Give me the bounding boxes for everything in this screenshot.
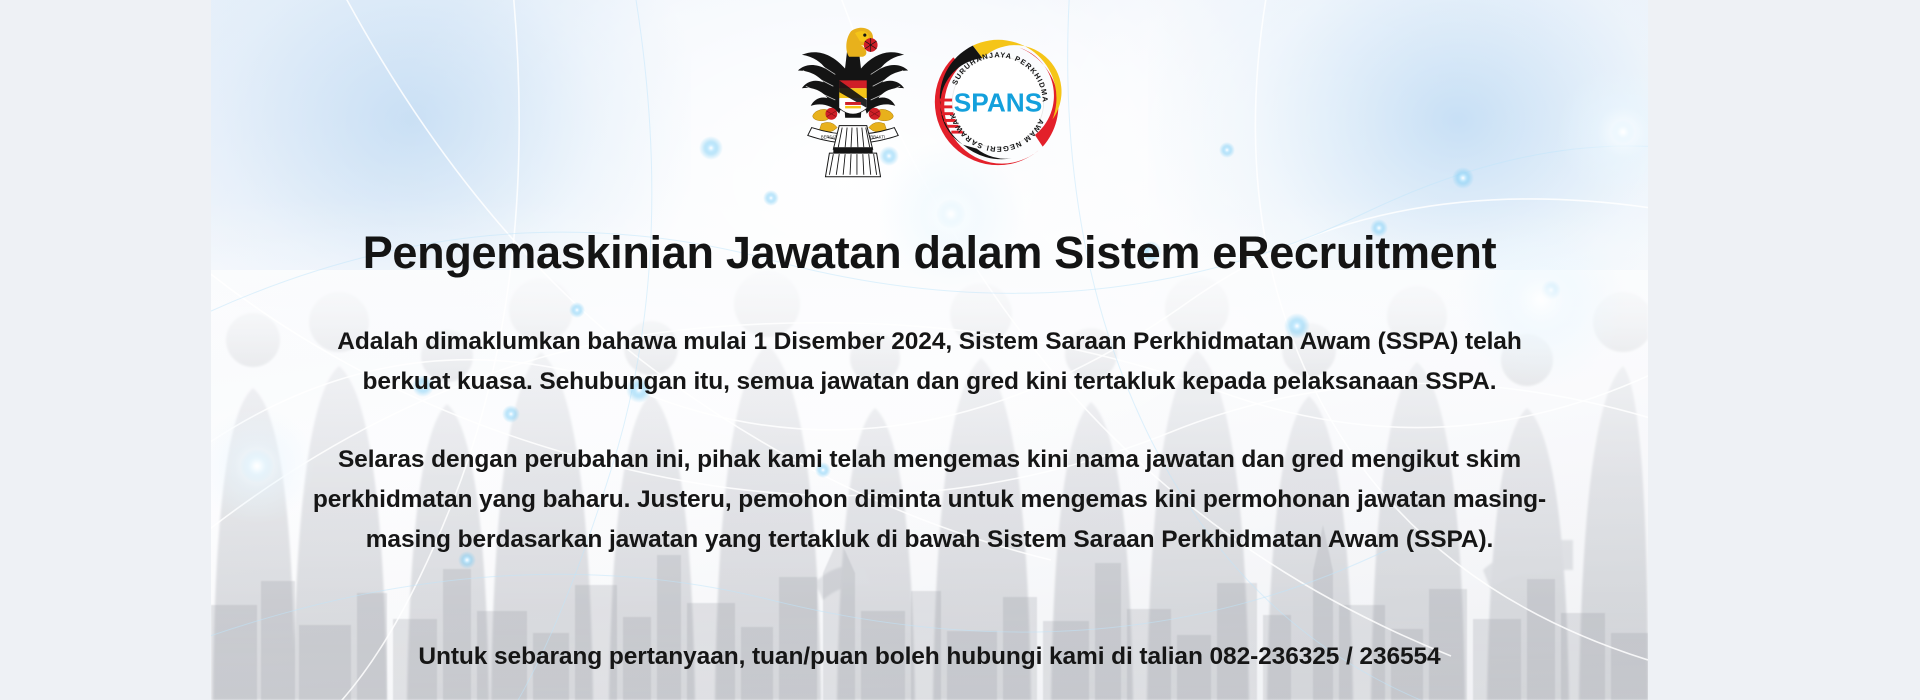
contact-line: Untuk sebarang pertanyaan, tuan/puan bol… xyxy=(301,637,1558,677)
page-title: Pengemaskinian Jawatan dalam Sistem eRec… xyxy=(211,228,1648,278)
paragraph-1: Adalah dimaklumkan bahawa mulai 1 Disemb… xyxy=(301,322,1558,402)
announcement-text: Pengemaskinian Jawatan dalam Sistem eRec… xyxy=(211,0,1648,700)
paragraph-2: Selaras dengan perubahan ini, pihak kami… xyxy=(301,440,1558,560)
page-root: BERSATU BERUSAHA BERBAKTI xyxy=(0,0,1920,700)
announcement-banner: BERSATU BERUSAHA BERBAKTI xyxy=(211,0,1648,700)
